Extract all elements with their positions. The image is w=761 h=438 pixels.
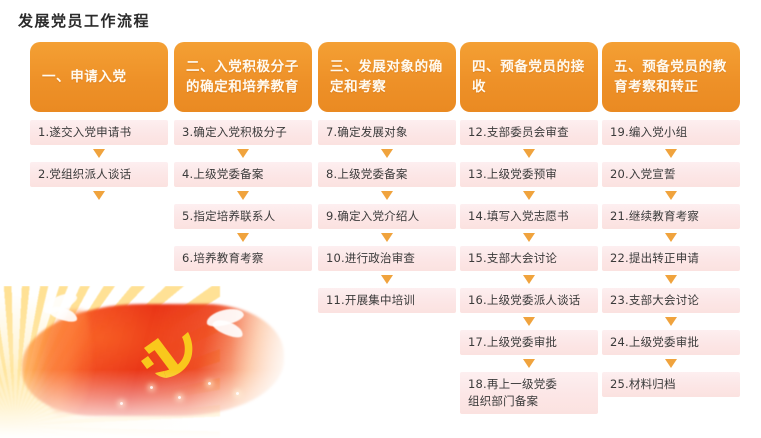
step-label: 22.提出转正申请 (610, 250, 699, 267)
flow-arrow-wrap (381, 271, 393, 288)
flow-arrow-wrap (523, 313, 535, 330)
column-header-2[interactable]: 二、入党积极分子的确定和培养教育 (174, 42, 312, 112)
step-label: 3.确定入党积极分子 (182, 124, 287, 141)
arrow-down-icon (237, 191, 249, 200)
step-label: 19.编入党小组 (610, 124, 687, 141)
step-item[interactable]: 13.上级党委预审 (460, 162, 598, 187)
arrow-down-icon (381, 233, 393, 242)
flow-arrow-wrap (523, 187, 535, 204)
flow-arrow-wrap (237, 145, 249, 162)
column-header-3[interactable]: 三、发展对象的确定和考察 (318, 42, 456, 112)
step-label: 5.指定培养联系人 (182, 208, 275, 225)
flow-arrow-wrap (665, 271, 677, 288)
step-item[interactable]: 11.开展集中培训 (318, 288, 456, 313)
step-label: 21.继续教育考察 (610, 208, 699, 225)
step-item[interactable]: 5.指定培养联系人 (174, 204, 312, 229)
arrow-down-icon (523, 191, 535, 200)
step-item[interactable]: 19.编入党小组 (602, 120, 740, 145)
step-label: 18.再上一级党委 (468, 377, 557, 391)
flow-arrow-wrap (665, 229, 677, 246)
step-item[interactable]: 18.再上一级党委组织部门备案 (460, 372, 598, 414)
flow-arrow-wrap (381, 229, 393, 246)
step-label: 25.材料归档 (610, 376, 676, 393)
arrow-down-icon (665, 149, 677, 158)
arrow-down-icon (523, 149, 535, 158)
step-item[interactable]: 25.材料归档 (602, 372, 740, 397)
arrow-down-icon (381, 275, 393, 284)
flow-arrow-wrap (665, 187, 677, 204)
page-title: 发展党员工作流程 (18, 10, 150, 31)
step-label: 11.开展集中培训 (326, 292, 415, 309)
step-item[interactable]: 9.确定入党介绍人 (318, 204, 456, 229)
step-item[interactable]: 2.党组织派人谈话 (30, 162, 168, 187)
flow-arrow-wrap (381, 187, 393, 204)
step-label: 12.支部委员会审查 (468, 124, 569, 141)
step-list: 19.编入党小组20.入党宣誓21.继续教育考察22.提出转正申请23.支部大会… (602, 120, 740, 397)
step-item[interactable]: 4.上级党委备案 (174, 162, 312, 187)
arrow-down-icon (665, 317, 677, 326)
step-item[interactable]: 7.确定发展对象 (318, 120, 456, 145)
step-label: 7.确定发展对象 (326, 124, 408, 141)
flow-arrow-wrap (381, 145, 393, 162)
step-label: 4.上级党委备案 (182, 166, 264, 183)
step-item[interactable]: 24.上级党委审批 (602, 330, 740, 355)
flow-arrow-wrap (93, 145, 105, 162)
flow-arrow-wrap (237, 187, 249, 204)
arrow-down-icon (523, 275, 535, 284)
step-label: 10.进行政治审查 (326, 250, 415, 267)
flow-column-3: 三、发展对象的确定和考察7.确定发展对象8.上级党委备案9.确定入党介绍人10.… (318, 42, 456, 313)
step-item[interactable]: 16.上级党委派人谈话 (460, 288, 598, 313)
step-item[interactable]: 14.填写入党志愿书 (460, 204, 598, 229)
step-label: 24.上级党委审批 (610, 334, 699, 351)
flow-arrow-wrap (523, 271, 535, 288)
step-list: 1.遂交入党申请书2.党组织派人谈话 (30, 120, 168, 204)
column-header-5[interactable]: 五、预备党员的教育考察和转正 (602, 42, 740, 112)
step-item[interactable]: 8.上级党委备案 (318, 162, 456, 187)
step-label: 1.遂交入党申请书 (38, 124, 131, 141)
arrow-down-icon (665, 233, 677, 242)
flow-arrow-wrap (93, 187, 105, 204)
flow-arrow-wrap (665, 313, 677, 330)
arrow-down-icon (665, 191, 677, 200)
step-item[interactable]: 3.确定入党积极分子 (174, 120, 312, 145)
column-header-4[interactable]: 四、预备党员的接收 (460, 42, 598, 112)
arrow-down-icon (665, 359, 677, 368)
flow-arrow-wrap (665, 355, 677, 372)
step-label-wrap: 18.再上一级党委组织部门备案 (468, 376, 557, 410)
step-item[interactable]: 1.遂交入党申请书 (30, 120, 168, 145)
step-label: 2.党组织派人谈话 (38, 166, 131, 183)
step-item[interactable]: 15.支部大会讨论 (460, 246, 598, 271)
arrow-down-icon (381, 149, 393, 158)
step-item[interactable]: 22.提出转正申请 (602, 246, 740, 271)
step-list: 12.支部委员会审查13.上级党委预审14.填写入党志愿书15.支部大会讨论16… (460, 120, 598, 414)
arrow-down-icon (523, 317, 535, 326)
arrow-down-icon (665, 275, 677, 284)
arrow-down-icon (381, 191, 393, 200)
step-label-line2: 组织部门备案 (468, 393, 557, 410)
flow-columns: 一、申请入党1.遂交入党申请书2.党组织派人谈话二、入党积极分子的确定和培养教育… (0, 0, 761, 438)
step-item[interactable]: 21.继续教育考察 (602, 204, 740, 229)
flowchart-page: 发展党员工作流程 一、申请入党1.遂交入党申请书2.党组织派人谈话二、入党积极分… (0, 0, 761, 438)
flow-arrow-wrap (523, 355, 535, 372)
flow-column-2: 二、入党积极分子的确定和培养教育3.确定入党积极分子4.上级党委备案5.指定培养… (174, 42, 312, 271)
step-label: 15.支部大会讨论 (468, 250, 557, 267)
flow-column-1: 一、申请入党1.遂交入党申请书2.党组织派人谈话 (30, 42, 168, 204)
step-label: 6.培养教育考察 (182, 250, 264, 267)
step-label: 20.入党宣誓 (610, 166, 676, 183)
step-label: 17.上级党委审批 (468, 334, 557, 351)
step-label: 14.填写入党志愿书 (468, 208, 569, 225)
arrow-down-icon (93, 191, 105, 200)
arrow-down-icon (237, 233, 249, 242)
flow-arrow-wrap (523, 145, 535, 162)
flow-column-4: 四、预备党员的接收12.支部委员会审查13.上级党委预审14.填写入党志愿书15… (460, 42, 598, 414)
step-item[interactable]: 10.进行政治审查 (318, 246, 456, 271)
arrow-down-icon (523, 233, 535, 242)
step-label: 23.支部大会讨论 (610, 292, 699, 309)
step-list: 3.确定入党积极分子4.上级党委备案5.指定培养联系人6.培养教育考察 (174, 120, 312, 271)
step-label: 9.确定入党介绍人 (326, 208, 419, 225)
flow-arrow-wrap (523, 229, 535, 246)
arrow-down-icon (237, 149, 249, 158)
step-item[interactable]: 20.入党宣誓 (602, 162, 740, 187)
step-list: 7.确定发展对象8.上级党委备案9.确定入党介绍人10.进行政治审查11.开展集… (318, 120, 456, 313)
arrow-down-icon (93, 149, 105, 158)
step-item[interactable]: 17.上级党委审批 (460, 330, 598, 355)
flow-column-5: 五、预备党员的教育考察和转正19.编入党小组20.入党宣誓21.继续教育考察22… (602, 42, 740, 397)
step-item[interactable]: 6.培养教育考察 (174, 246, 312, 271)
step-label: 16.上级党委派人谈话 (468, 292, 581, 309)
step-label: 13.上级党委预审 (468, 166, 557, 183)
flow-arrow-wrap (665, 145, 677, 162)
arrow-down-icon (523, 359, 535, 368)
flow-arrow-wrap (237, 229, 249, 246)
step-item[interactable]: 12.支部委员会审查 (460, 120, 598, 145)
step-label: 8.上级党委备案 (326, 166, 408, 183)
column-header-1[interactable]: 一、申请入党 (30, 42, 168, 112)
step-item[interactable]: 23.支部大会讨论 (602, 288, 740, 313)
